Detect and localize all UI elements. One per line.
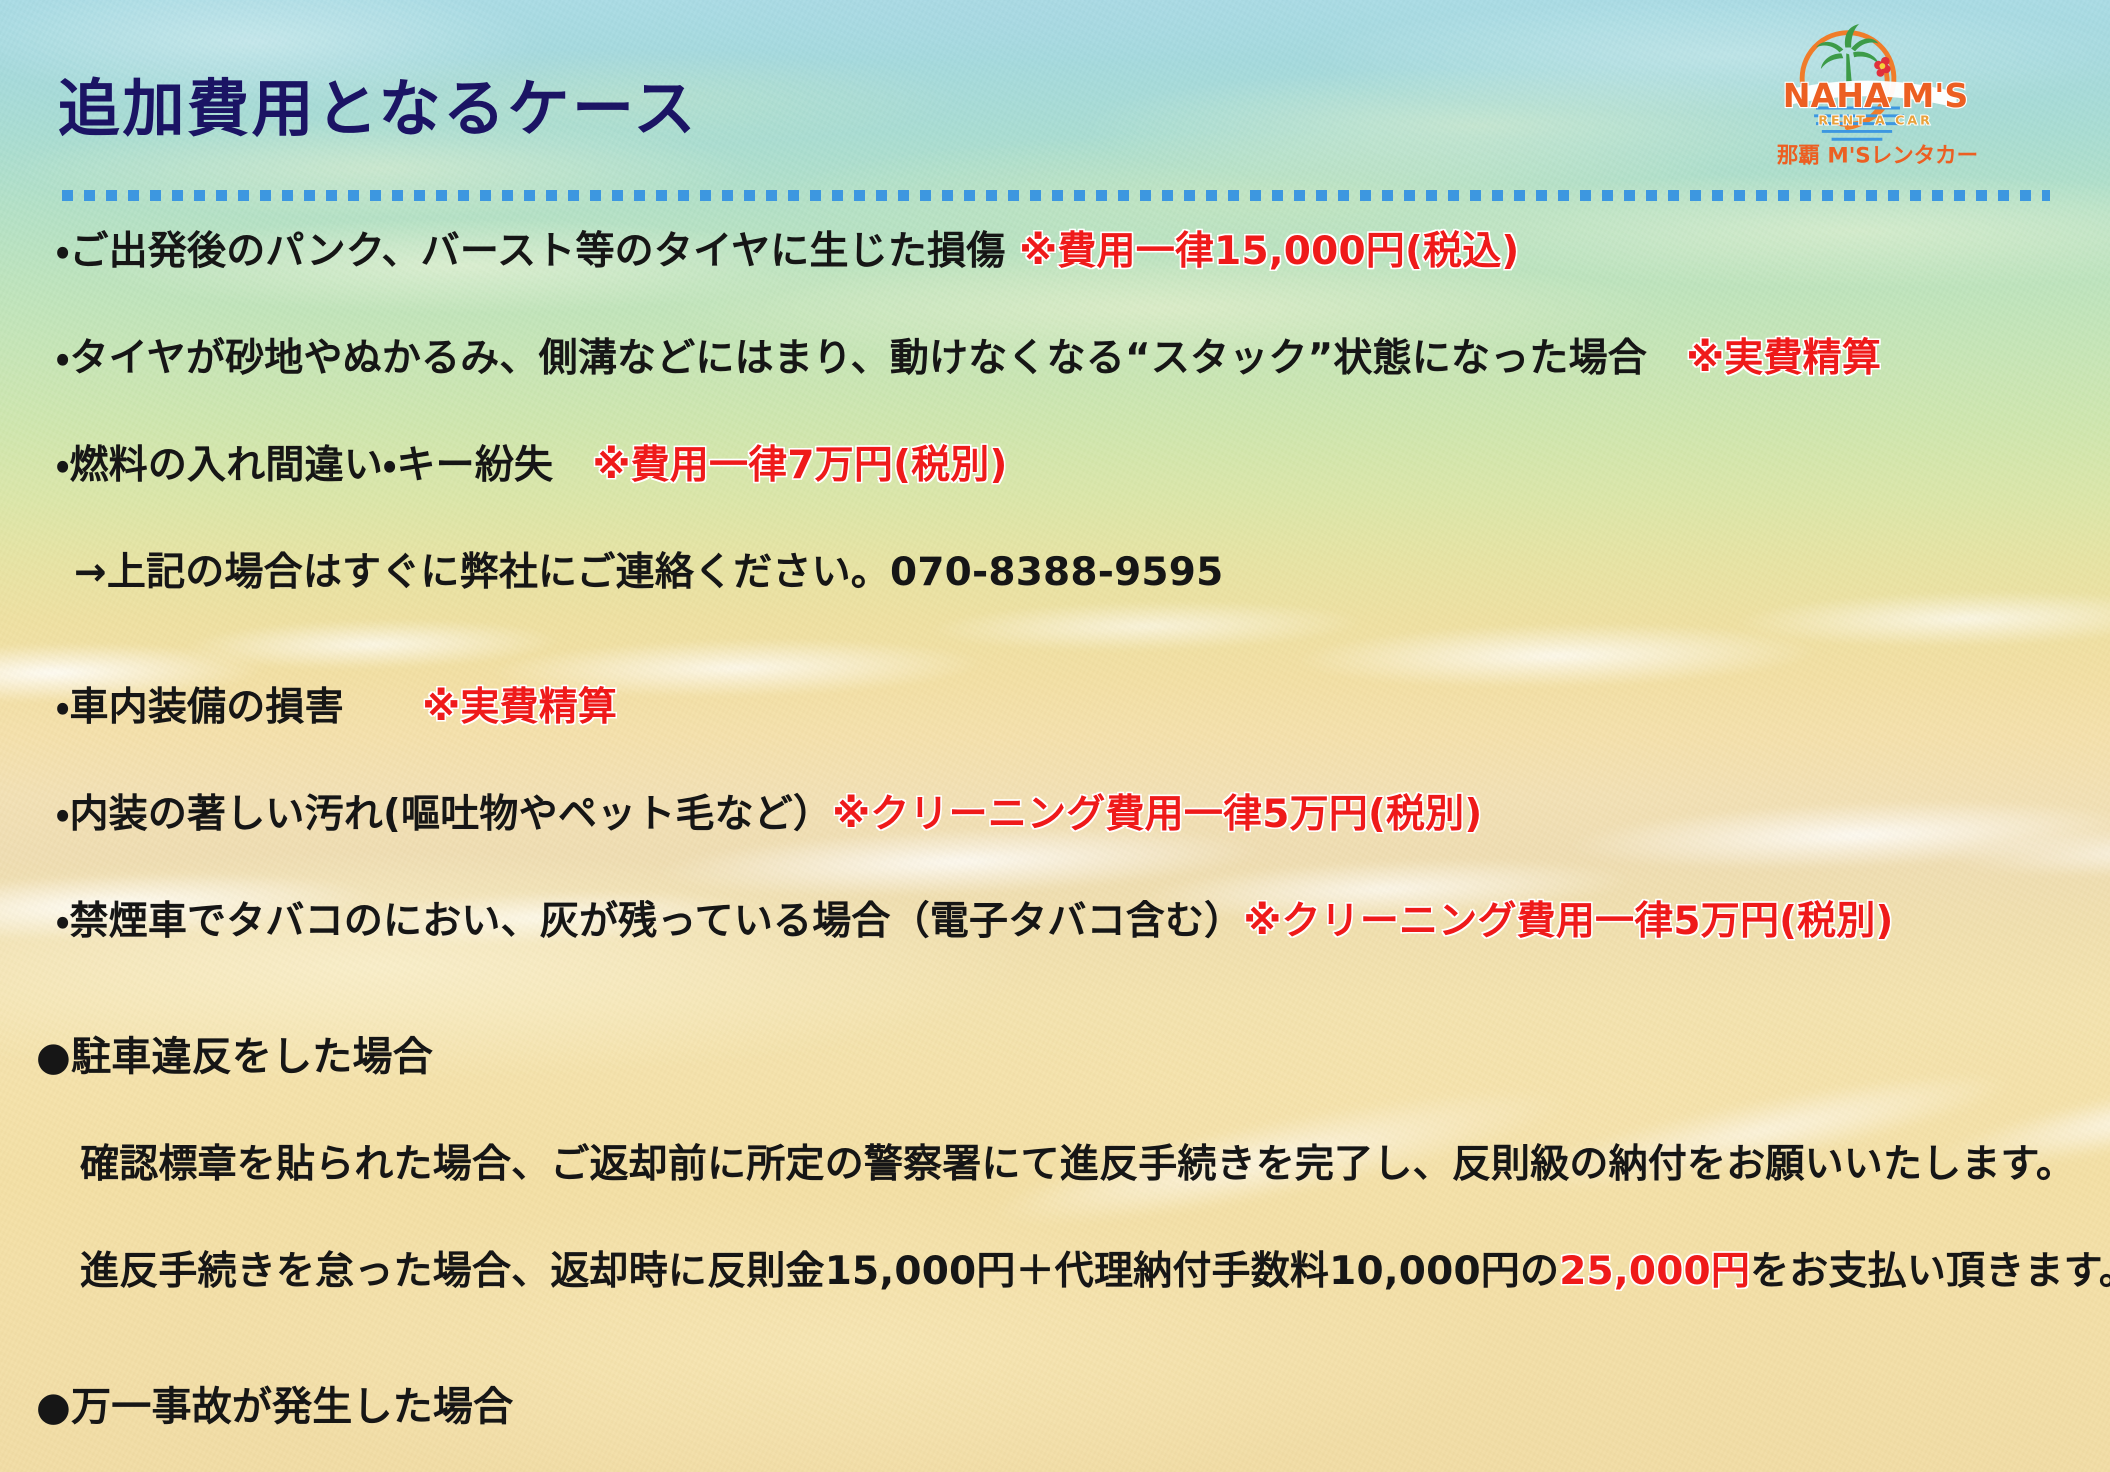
- section-accident: ●万一事故が発生した場合 事故が起こった場所にて、警察・弊社担当者(070-83…: [0, 1387, 2110, 1472]
- parking-violation-line-1: 確認標章を貼られた場合、ご返却前に所定の警察署にて進反手続きを完了し、反則級の納…: [0, 1145, 2110, 1184]
- line-gap: [0, 1184, 2110, 1252]
- contact-note-line: →上記の場合はすぐに弊社にご連絡ください。070-8388-9595: [0, 553, 2110, 592]
- line-gap: [0, 1077, 2110, 1145]
- bullet-tire-damage-fee: ※費用一律15,000円(税込): [1019, 229, 1519, 274]
- section-gap: [0, 1291, 2110, 1387]
- bullet-interior-stains-text: ・内装の著しい汚れ(嘔吐物やペット毛など）: [56, 792, 832, 837]
- line-gap: [0, 727, 2110, 795]
- parking-fine-breakdown: 進反手続きを怠った場合、返却時に反則金15,000円＋代理納付手数料10,000…: [80, 1249, 1559, 1294]
- section-gap: [0, 941, 2110, 1037]
- bullet-tire-damage-text: ・ご出発後のパンク、バースト等のタイヤに生じた損傷: [56, 229, 1019, 274]
- bullet-fuel-key-text: ・燃料の入れ間違い・キー紛失: [56, 443, 592, 488]
- bullet-smoking-fee: ※クリーニング費用一律5万円(税別): [1243, 899, 1893, 944]
- line-gap: [0, 834, 2110, 902]
- line-gap: [0, 271, 2110, 339]
- bullet-fuel-key-fee: ※費用一律7万円(税別): [592, 443, 1007, 488]
- logo-tagline-en: RENT A CAR: [1818, 113, 1933, 128]
- slide-canvas: 追加費用となるケース: [0, 0, 2110, 1472]
- logo-brand-en: NAHA M'S: [1783, 76, 1969, 115]
- section-gap: [0, 592, 2110, 688]
- slide-content: 追加費用となるケース: [0, 0, 2110, 1472]
- dotted-divider: [62, 190, 2050, 201]
- parking-fine-total: 25,000円: [1559, 1249, 1750, 1294]
- bullet-smoking: ・禁煙車でタバコのにおい、灰が残っている場合（電子タバコ含む）※クリーニング費用…: [0, 902, 2110, 941]
- line-gap: [0, 378, 2110, 446]
- bullet-stuck: ・タイヤが砂地やぬかるみ、側溝などにはまり、動けなくなる“スタック”状態になった…: [0, 339, 2110, 378]
- section-interior-damage: ・車内装備の損害 ※実費精算 ・内装の著しい汚れ(嘔吐物やペット毛など）※クリー…: [0, 688, 2110, 941]
- bullet-smoking-text: ・禁煙車でタバコのにおい、灰が残っている場合（電子タバコ含む）: [56, 899, 1243, 944]
- page-title: 追加費用となるケース: [58, 58, 698, 148]
- section-tire-and-fuel: ・ご出発後のパンク、バースト等のタイヤに生じた損傷 ※費用一律15,000円(税…: [0, 232, 2110, 592]
- bullet-tire-damage: ・ご出発後のパンク、バースト等のタイヤに生じた損傷 ※費用一律15,000円(税…: [0, 232, 2110, 271]
- bullet-interior-stains-fee: ※クリーニング費用一律5万円(税別): [832, 792, 1482, 837]
- line-gap: [0, 485, 2110, 553]
- company-logo: NAHA M'S RENT A CAR 那覇 M'Sレンタカー: [1775, 6, 1980, 171]
- bullet-fuel-key: ・燃料の入れ間違い・キー紛失 ※費用一律7万円(税別): [0, 446, 2110, 485]
- logo-brand-jp: 那覇 M'Sレンタカー: [1777, 144, 1978, 169]
- body-text-container: ・ご出発後のパンク、バースト等のタイヤに生じた損傷 ※費用一律15,000円(税…: [0, 232, 2110, 1472]
- bullet-stuck-fee: ※実費精算: [1686, 336, 1881, 381]
- section-parking-violation: ●駐車違反をした場合 確認標章を貼られた場合、ご返却前に所定の警察署にて進反手続…: [0, 1037, 2110, 1291]
- bullet-interior-equipment-text: ・車内装備の損害: [56, 685, 422, 730]
- heading-accident: ●万一事故が発生した場合: [0, 1387, 2110, 1427]
- line-gap: [0, 1427, 2110, 1472]
- heading-parking-violation: ●駐車違反をした場合: [0, 1037, 2110, 1077]
- bullet-stuck-text: ・タイヤが砂地やぬかるみ、側溝などにはまり、動けなくなる“スタック”状態になった…: [56, 336, 1686, 381]
- parking-fine-suffix: をお支払い頂きます。: [1750, 1249, 2110, 1294]
- bullet-interior-equipment-fee: ※実費精算: [422, 685, 617, 730]
- bullet-interior-stains: ・内装の著しい汚れ(嘔吐物やペット毛など）※クリーニング費用一律5万円(税別): [0, 795, 2110, 834]
- parking-violation-line-2: 進反手続きを怠った場合、返却時に反則金15,000円＋代理納付手数料10,000…: [0, 1252, 2110, 1291]
- bullet-interior-equipment: ・車内装備の損害 ※実費精算: [0, 688, 2110, 727]
